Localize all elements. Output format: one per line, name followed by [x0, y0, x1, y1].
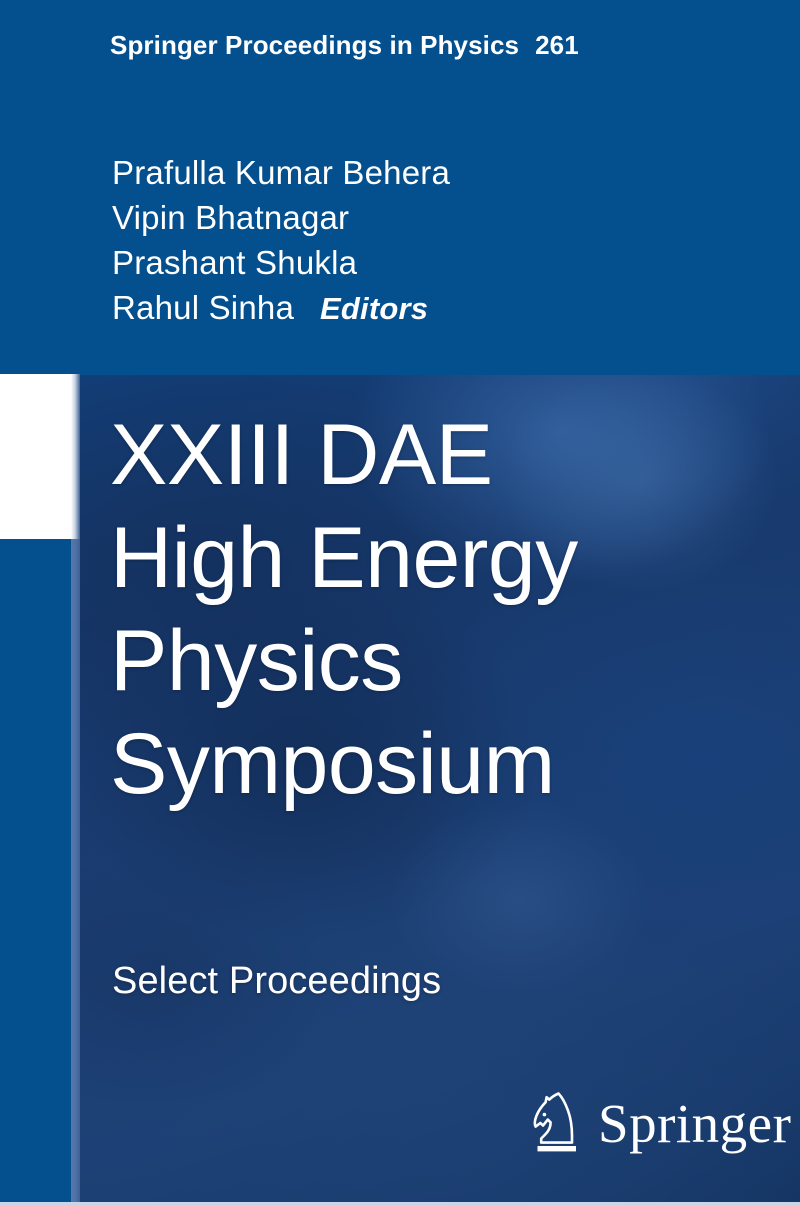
- book-subtitle: Select Proceedings: [112, 960, 441, 1003]
- series-volume-number: 261: [535, 30, 579, 60]
- title-line: Symposium: [110, 713, 730, 816]
- left-white-block: [0, 374, 71, 539]
- series-title: Springer Proceedings in Physics261: [110, 30, 579, 61]
- series-name: Springer Proceedings in Physics: [110, 30, 519, 60]
- series-header-band: Springer Proceedings in Physics261 Prafu…: [0, 0, 800, 375]
- springer-knight-icon: [528, 1089, 586, 1155]
- editor-name: Prashant Shukla: [112, 240, 450, 285]
- editor-name: Vipin Bhatnagar: [112, 195, 450, 240]
- title-line: XXIII DAE: [110, 404, 730, 507]
- editors-block: Prafulla Kumar Behera Vipin Bhatnagar Pr…: [112, 150, 450, 331]
- book-title: XXIII DAE High Energy Physics Symposium: [110, 404, 730, 816]
- editor-name: Rahul Sinha: [112, 289, 294, 326]
- publisher-name: Springer: [598, 1096, 791, 1151]
- editor-name: Prafulla Kumar Behera: [112, 150, 450, 195]
- title-line: High Energy: [110, 507, 730, 610]
- title-line: Physics: [110, 610, 730, 713]
- book-cover: Springer Proceedings in Physics261 Prafu…: [0, 0, 800, 1205]
- left-spine-strip: [0, 539, 71, 1205]
- editors-role-label: Editors: [320, 291, 428, 326]
- left-accent-strip-top: [71, 374, 80, 539]
- publisher-logo: Springer: [528, 1083, 791, 1155]
- editor-name-with-role: Rahul SinhaEditors: [112, 285, 450, 331]
